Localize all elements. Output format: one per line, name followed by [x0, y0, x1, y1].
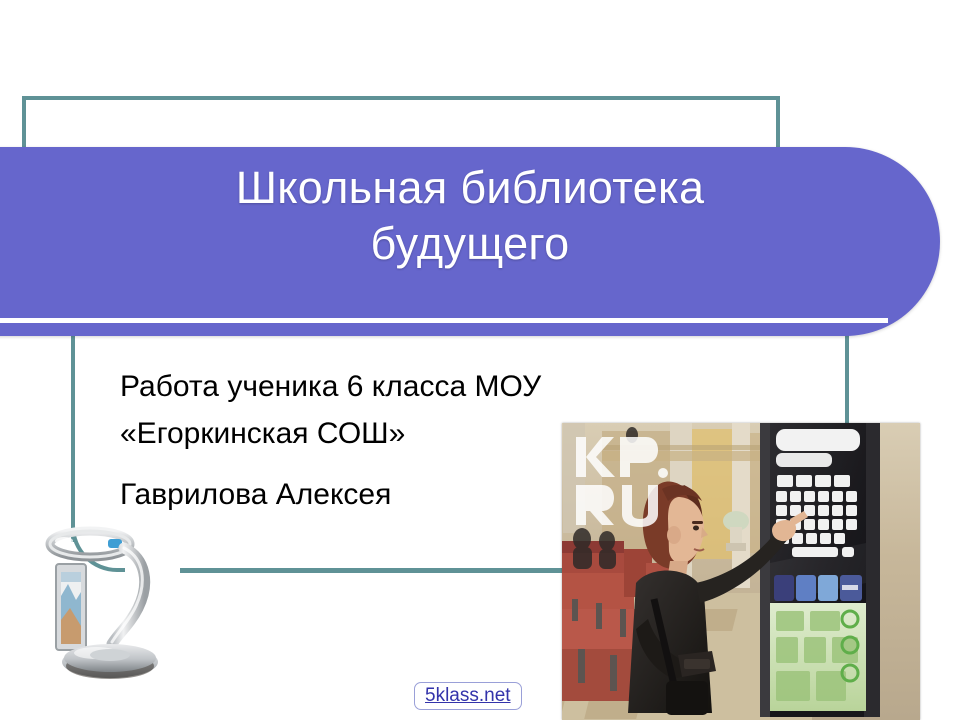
- subtitle-line-1: Работа ученика 6 класса МОУ: [120, 363, 560, 410]
- desk-lamp-scanner-illustration: [34, 522, 184, 682]
- frame-top-line: [22, 96, 780, 100]
- woman-using-touchscreen-kiosk-photo: [562, 423, 920, 720]
- frame-right-lower-line: [845, 334, 849, 426]
- presentation-slide: Школьная библиотека будущего Работа учен…: [0, 0, 960, 720]
- subtitle-line-2: «Егоркинская СОШ»: [120, 410, 560, 457]
- frame-left-lower-line: [71, 334, 75, 542]
- subtitle-line-3: Гаврилова Алексея: [120, 471, 560, 518]
- title-banner-rule: [0, 318, 888, 323]
- frame-right-upper-line: [776, 96, 780, 152]
- frame-left-upper-line: [22, 96, 26, 152]
- page-title: Школьная библиотека будущего: [40, 160, 900, 272]
- site-watermark-label: 5klass.net: [425, 685, 511, 706]
- site-watermark-badge[interactable]: 5klass.net: [414, 682, 522, 710]
- frame-bottom-line: [180, 568, 565, 573]
- subtitle-block: Работа ученика 6 класса МОУ «Егоркинская…: [120, 363, 560, 518]
